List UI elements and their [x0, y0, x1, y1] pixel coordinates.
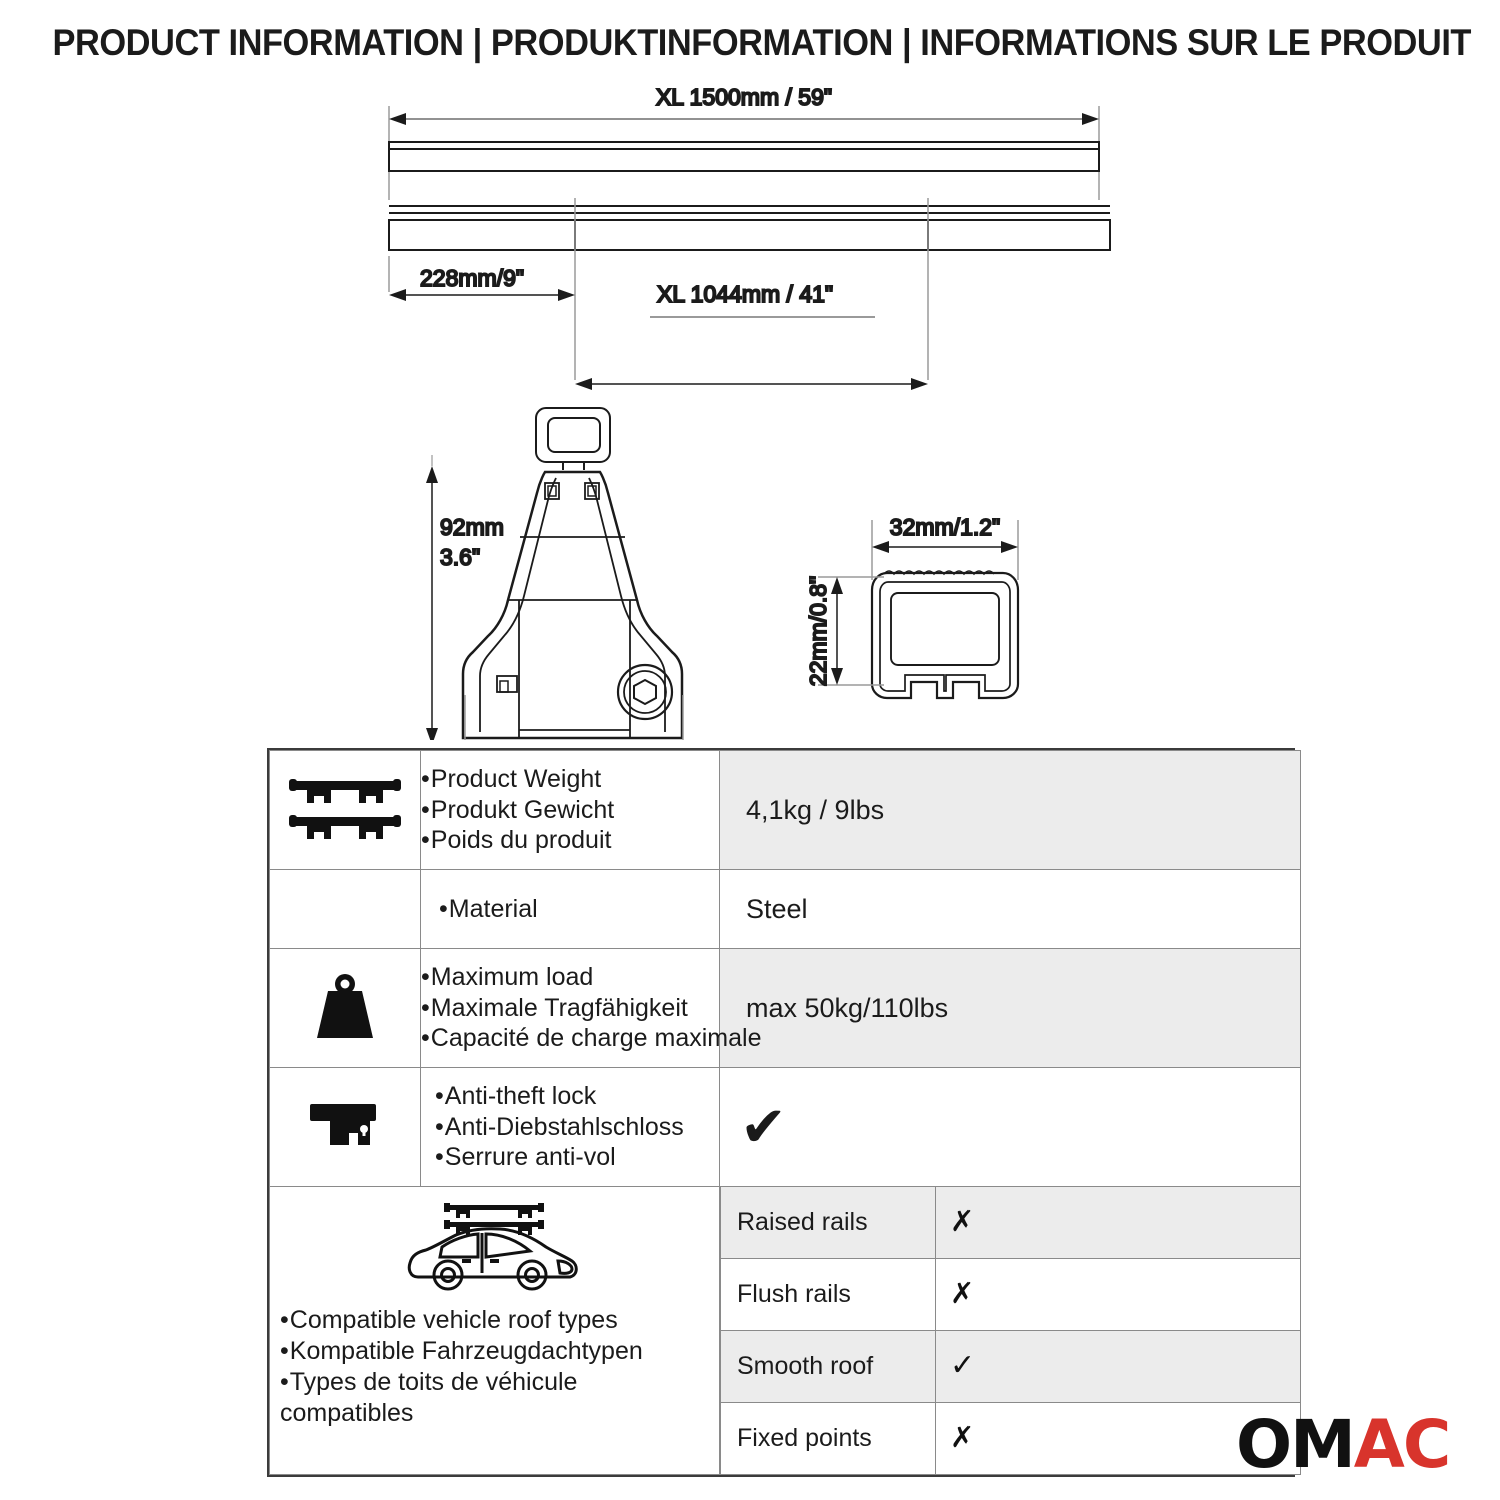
- crossbar-side-view: [389, 142, 1099, 171]
- table-row-compatibility: Compatible vehicle roof types Kompatible…: [270, 1187, 1301, 1475]
- foot-height-dimension: [426, 455, 438, 740]
- label-line: Product Weight: [421, 764, 719, 795]
- bar-cross-section: [872, 571, 1018, 698]
- foot-height-label-mm: 92mm: [440, 514, 504, 540]
- roof-type-row-raised-rails: Raised rails ✗: [721, 1187, 1301, 1259]
- anti-theft-label-cell: Anti-theft lock Anti-Diebstahlschloss Se…: [421, 1068, 720, 1187]
- table-row-product-weight: Product Weight Produkt Gewicht Poids du …: [270, 751, 1301, 870]
- label-line: Kompatible Fahrzeugdachtypen: [280, 1336, 713, 1367]
- label-line: Maximum load: [421, 962, 719, 993]
- roof-type-subtable: Raised rails ✗ Flush rails ✗: [720, 1187, 1300, 1474]
- roof-type-mark: ✗: [936, 1187, 1301, 1259]
- specification-table: Product Weight Produkt Gewicht Poids du …: [267, 748, 1295, 1477]
- table-row-material: Material Steel: [270, 870, 1301, 949]
- compatibility-label-cell: Compatible vehicle roof types Kompatible…: [270, 1187, 720, 1475]
- foot-front-view: [463, 408, 682, 738]
- label-line: Serrure anti-vol: [435, 1142, 719, 1173]
- table-row-maximum-load: Maximum load Maximale Tragfähigkeit Capa…: [270, 949, 1301, 1068]
- span-dimension: [575, 378, 928, 390]
- label-line: Anti-Diebstahlschloss: [435, 1112, 719, 1143]
- product-information-sheet: PRODUCT INFORMATION | PRODUKTINFORMATION…: [0, 0, 1500, 1500]
- maximum-load-icon-cell: [270, 949, 421, 1068]
- label-line: Types de toits de véhicule compatibles: [280, 1367, 713, 1429]
- label-line: Anti-theft lock: [435, 1081, 719, 1112]
- anti-theft-check-mark: ✔: [720, 1099, 1300, 1155]
- material-label-cell: Material: [421, 870, 720, 949]
- material-value-cell: Steel: [720, 870, 1301, 949]
- label-line: Capacité de charge maximale: [421, 1023, 719, 1054]
- maximum-load-label-cell: Maximum load Maximale Tragfähigkeit Capa…: [421, 949, 720, 1068]
- cross-icon: ✗: [950, 1278, 974, 1310]
- cross-icon: ✗: [950, 1422, 974, 1454]
- bar-length-label: XL 1500mm / 59": [656, 84, 832, 110]
- omac-logo: OMAC: [1236, 1412, 1449, 1478]
- label-line: Compatible vehicle roof types: [280, 1305, 713, 1336]
- technical-drawings: XL 1500mm / 59": [0, 80, 1500, 740]
- weight-icon: [310, 972, 380, 1044]
- cross-icon: ✗: [950, 1206, 974, 1238]
- label-line: Maximale Tragfähigkeit: [421, 993, 719, 1024]
- foot-offset-label: 228mm/9": [420, 265, 524, 291]
- maximum-load-value-cell: max 50kg/110lbs: [720, 949, 1301, 1068]
- page-title: PRODUCT INFORMATION | PRODUKTINFORMATION…: [53, 22, 1448, 64]
- label-line: Produkt Gewicht: [421, 795, 719, 826]
- drawings-svg: XL 1500mm / 59": [0, 80, 1500, 740]
- label-line: Poids du produit: [421, 825, 719, 856]
- product-weight-label-cell: Product Weight Produkt Gewicht Poids du …: [421, 751, 720, 870]
- product-weight-value: 4,1kg / 9lbs: [720, 795, 1300, 826]
- roof-type-name: Raised rails: [721, 1187, 936, 1259]
- roof-type-row-smooth-roof: Smooth roof ✓: [721, 1331, 1301, 1403]
- product-weight-icon-cell: [270, 751, 421, 870]
- roof-type-mark: ✓: [936, 1331, 1301, 1403]
- profile-height-label: 22mm/0.8": [805, 576, 831, 686]
- anti-theft-icon-cell: [270, 1068, 421, 1187]
- roof-bars-icon: [287, 773, 403, 847]
- lock-icon: [306, 1098, 384, 1156]
- foot-height-label-in: 3.6": [440, 544, 480, 570]
- profile-width-label: 32mm/1.2": [890, 514, 1000, 540]
- logo-text-dark: OM: [1236, 1406, 1354, 1483]
- logo-text-red: AC: [1354, 1406, 1450, 1483]
- table-row-anti-theft-lock: Anti-theft lock Anti-Diebstahlschloss Se…: [270, 1068, 1301, 1187]
- label-line: Material: [439, 894, 719, 925]
- span-label: XL 1044mm / 41": [657, 281, 833, 307]
- roof-type-name: Fixed points: [721, 1403, 936, 1475]
- material-icon-cell: [270, 870, 421, 949]
- material-value: Steel: [720, 894, 1300, 925]
- anti-theft-value-cell: ✔: [720, 1068, 1301, 1187]
- car-with-roof-rack-icon: [400, 1195, 590, 1295]
- roof-type-row-fixed-points: Fixed points ✗: [721, 1403, 1301, 1475]
- roof-type-mark: ✗: [936, 1259, 1301, 1331]
- roof-type-name: Flush rails: [721, 1259, 936, 1331]
- product-weight-value-cell: 4,1kg / 9lbs: [720, 751, 1301, 870]
- roof-type-row-flush-rails: Flush rails ✗: [721, 1259, 1301, 1331]
- bar-length-dimension: [389, 106, 1099, 200]
- compatibility-matrix-cell: Raised rails ✗ Flush rails ✗: [720, 1187, 1301, 1475]
- maximum-load-value: max 50kg/110lbs: [720, 993, 1300, 1024]
- roof-type-name: Smooth roof: [721, 1331, 936, 1403]
- check-icon: ✓: [950, 1349, 975, 1382]
